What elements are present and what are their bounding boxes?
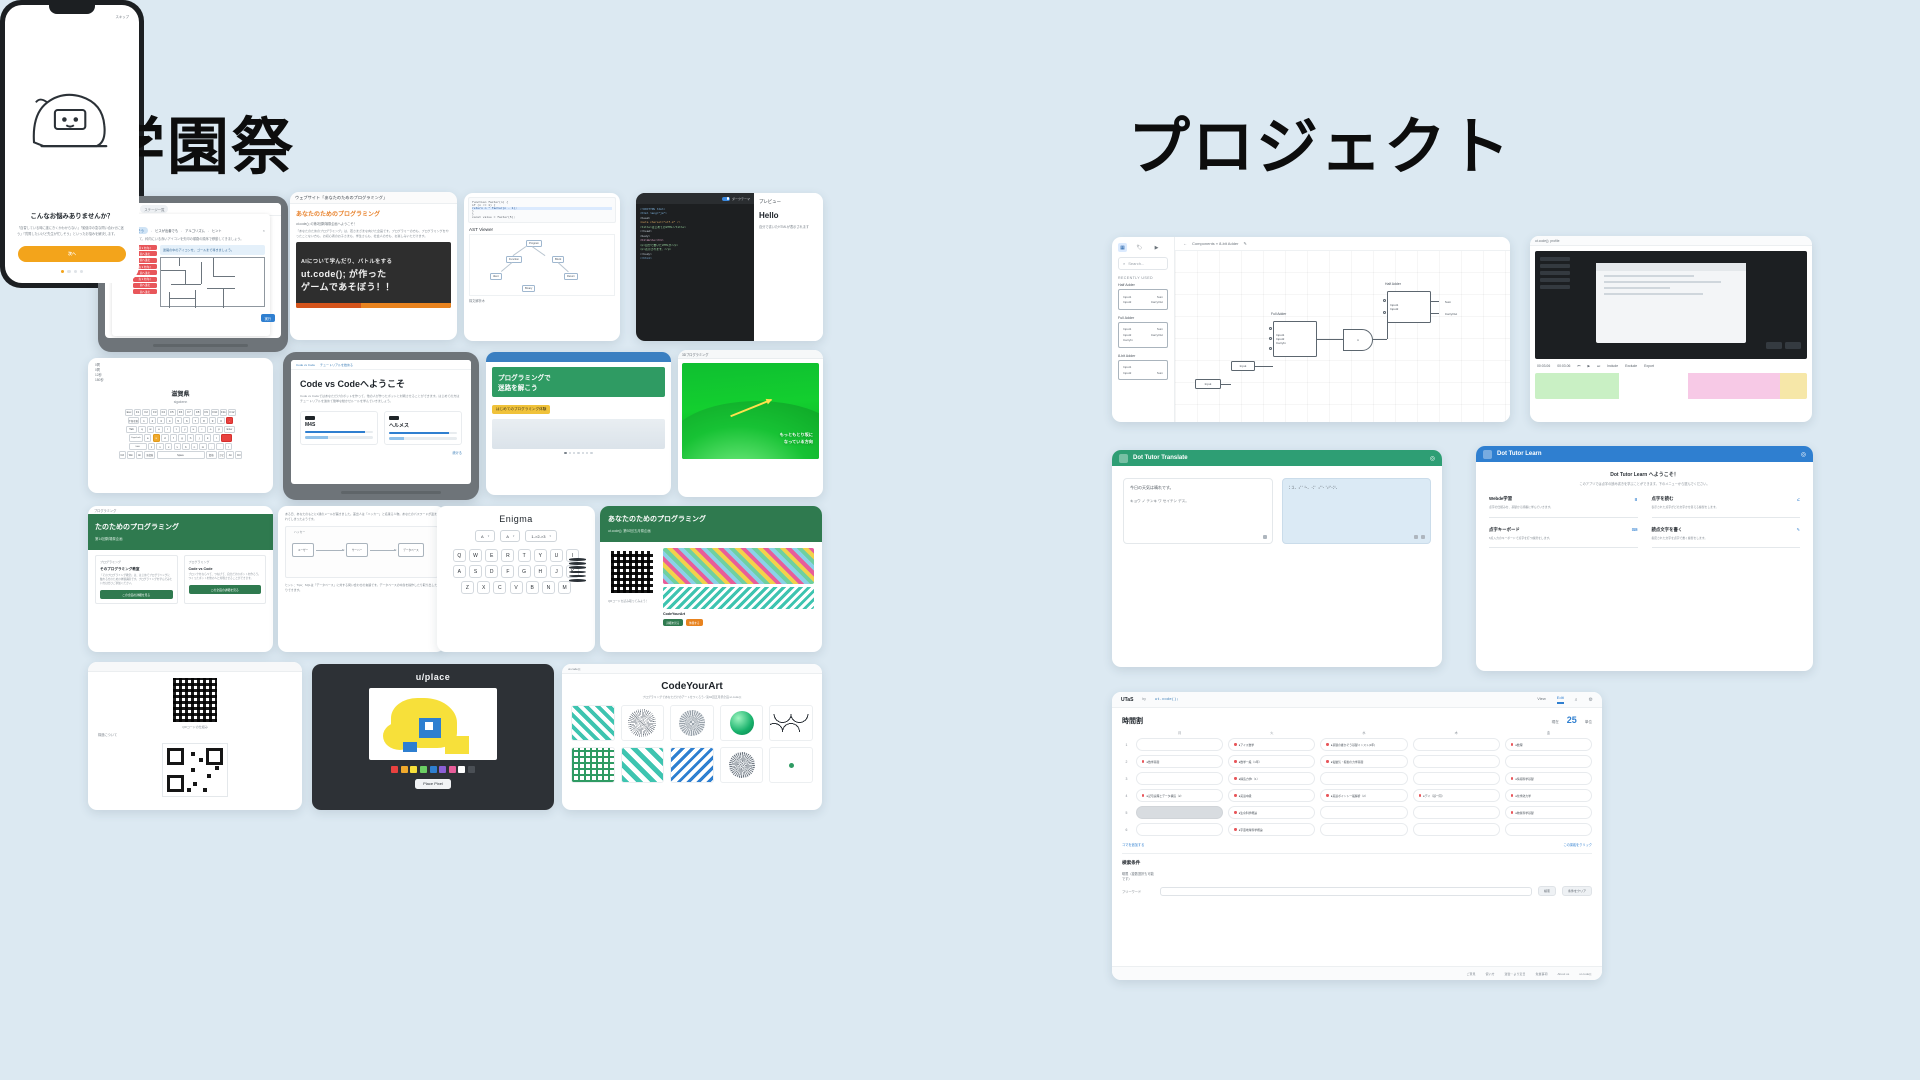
key[interactable]: w xyxy=(147,426,154,433)
video-stage[interactable] xyxy=(1535,251,1807,359)
cvc-footer-link[interactable]: 続ける xyxy=(300,451,462,456)
ast-canvas: Program Function Block Ident Return Bina… xyxy=(469,234,615,296)
maze-block[interactable]: 前へ進む xyxy=(133,283,157,288)
card-timetable-utas[interactable]: UTaS by ut.code(); View Edit ⌕ ⚙ 時間割 現在 … xyxy=(1112,692,1602,980)
art-tile[interactable] xyxy=(571,705,615,741)
phone-next-button[interactable]: 次へ xyxy=(18,246,126,262)
dtt-input-panel[interactable]: 今日の天気は晴れです。 キョウ ノ テンキ ワ セイテン デス。 xyxy=(1123,478,1273,544)
include-button[interactable]: Include xyxy=(1607,364,1618,368)
key[interactable]: F6 xyxy=(177,409,184,416)
key[interactable]: r xyxy=(164,426,171,433)
enigma-key[interactable]: T xyxy=(518,549,531,562)
video-progress-bar[interactable] xyxy=(296,303,451,308)
msolve-header xyxy=(486,352,671,362)
art-detail-button[interactable]: 詳細を見る xyxy=(663,619,683,626)
diagram-node-server[interactable]: サーバー xyxy=(346,543,368,557)
lec1-card-desc: ブロックをならべて、つなげて、自分だけのボットを作ろう。つくったボットを他の人と… xyxy=(189,573,262,581)
pin-in: Input1 xyxy=(1123,327,1131,331)
cvc-brand[interactable]: Code vs Code xyxy=(296,363,315,367)
key[interactable]: j xyxy=(195,434,202,441)
key[interactable]: i xyxy=(198,426,205,433)
card-code-vs-code[interactable]: Code vs Code チュートリアルを始める Code vs Codeへよう… xyxy=(283,352,479,500)
enigma-key[interactable]: Z xyxy=(461,581,474,594)
day-header: 金 xyxy=(1505,730,1592,735)
copy-icon xyxy=(1414,535,1418,539)
ast-node[interactable]: Return xyxy=(564,273,578,280)
timetable-cell[interactable] xyxy=(1413,772,1500,785)
key[interactable]: 6 xyxy=(183,417,190,424)
enigma-key[interactable]: V xyxy=(510,581,523,594)
filter-label: 曜限（複数選択も可能です） xyxy=(1122,871,1154,881)
key[interactable]: p xyxy=(215,426,222,433)
breadcrumb-path[interactable]: Components » 8-bit Adder xyxy=(1192,241,1238,246)
enigma-rotor-1[interactable]: A ▾ xyxy=(475,530,495,542)
enigma-key[interactable]: E xyxy=(485,549,498,562)
enigma-key[interactable]: A xyxy=(453,565,466,578)
key[interactable]: h xyxy=(187,434,194,441)
key[interactable]: m xyxy=(199,443,206,450)
key[interactable]: F10 xyxy=(211,409,218,416)
dtt-output-text: ⠅⠽⠄ ⠎⠁⠓⠄ ⠪⠁ ⠎⠑⠈⠞⠑⠝⠄ xyxy=(1289,485,1425,492)
footer-link[interactable]: ut.code(); xyxy=(1579,972,1592,976)
key[interactable]: 半角/全角 xyxy=(128,417,139,424)
key[interactable]: 3 xyxy=(157,417,164,424)
maze-step-4[interactable]: ヒント xyxy=(212,228,222,233)
key[interactable]: v xyxy=(174,443,181,450)
card-lecture-code-your-art[interactable]: あなたのためのプログラミング ut.code(); 第92回五月祭企画 QRコー… xyxy=(600,506,822,652)
canvas-and-gate[interactable]: ∧ xyxy=(1343,329,1373,351)
skip-button[interactable]: スキップ xyxy=(115,14,129,19)
canvas-full-adder-2[interactable]: Input1 Input2 xyxy=(1387,291,1431,323)
gear-icon[interactable]: ⚙ xyxy=(1589,697,1593,703)
card-video-editor[interactable]: ut.code(); profile 00:03.06 00:03.06 ⏮ ▶… xyxy=(1530,236,1812,422)
key-kana[interactable]: かな xyxy=(218,451,225,458)
enigma-rotor-2[interactable]: A ▾ xyxy=(500,530,520,542)
enigma-key[interactable]: R xyxy=(501,549,514,562)
timetable-cell[interactable]: ●構造力学I（1） xyxy=(1228,772,1315,785)
dtl-title: Dot Tutor Learn xyxy=(1497,451,1542,457)
card-qr-code-doc[interactable]: QRコードの仕組み 構造について xyxy=(88,662,302,810)
timetable-cell[interactable]: ●数学一般（1年） xyxy=(1228,755,1315,768)
key[interactable]: F2 xyxy=(142,409,149,416)
cvc-heading: Code vs Codeへようこそ xyxy=(300,377,462,390)
dtl-tile[interactable]: Webde学習⠿ 点字の仕組みを、基礎から順番に学んでいきます。 xyxy=(1489,496,1638,517)
timetable-cell[interactable] xyxy=(1413,738,1500,751)
timetable-heading: 時間割 xyxy=(1122,716,1143,726)
tablet-home-bar xyxy=(153,344,248,347)
card-enigma[interactable]: Enigma A ▾ A ▾ 1->2->3 ▾ Q W E R T Y xyxy=(437,506,595,652)
dark-theme-toggle[interactable] xyxy=(722,197,730,201)
key-win[interactable]: Win xyxy=(127,451,134,458)
footer-link[interactable]: ご意見 xyxy=(1466,972,1475,976)
footer-link[interactable]: 使い方 xyxy=(1485,972,1494,976)
key[interactable]: k xyxy=(204,434,211,441)
timetable-cell[interactable] xyxy=(1320,772,1407,785)
key[interactable]: 1 xyxy=(140,417,147,424)
cvc-nav-link[interactable]: チュートリアルを始める xyxy=(320,363,353,367)
video-timeline[interactable] xyxy=(1535,373,1807,399)
art-tile[interactable] xyxy=(769,705,813,741)
key[interactable]: f xyxy=(170,434,177,441)
key[interactable]: o xyxy=(207,426,214,433)
key[interactable]: F3 xyxy=(151,409,158,416)
timetable-cell[interactable]: ●生命科学概論 xyxy=(1228,806,1315,819)
timetable-cell[interactable]: ●英語中級 xyxy=(1228,789,1315,802)
art-tile[interactable] xyxy=(670,705,714,741)
enigma-key[interactable]: J xyxy=(550,565,563,578)
logic-sidebar: ▦ 🏷 ▶ ⌕ Search... RECENTLY USED Half Add… xyxy=(1112,237,1175,422)
phone-pagination-dots[interactable] xyxy=(5,262,139,283)
timetable-cell[interactable] xyxy=(1413,823,1500,836)
key-henkan[interactable]: 変換 xyxy=(206,451,217,458)
card-website-programming-for-you[interactable]: ウェブサイト「あなたのためのプログラミング」 あなたのためのプログラミング ut… xyxy=(290,192,457,340)
pin-out: Sum xyxy=(1157,295,1163,299)
timetable-cell[interactable]: ●数理 xyxy=(1505,738,1592,751)
enigma-key[interactable]: G xyxy=(518,565,531,578)
back-icon[interactable]: ← xyxy=(1183,241,1187,246)
key[interactable]: F8 xyxy=(194,409,201,416)
key[interactable]: 5 xyxy=(175,417,182,424)
ast-node[interactable]: Function xyxy=(506,256,522,263)
key[interactable]: Tab xyxy=(126,426,137,433)
ast-code-editor[interactable]: function factor(n) { if (n <= 1) { retur… xyxy=(468,197,616,223)
chevron-down-icon: ▾ xyxy=(549,534,551,538)
dtl-tile[interactable]: 点字キーボード⌨ 6点入力のキーボードで点字を打つ練習をします。 xyxy=(1489,527,1638,548)
site-video-thumbnail[interactable]: AIについて学んだり、バトルをする ut.code(); が作った ゲームであそ… xyxy=(296,242,451,308)
pencil-icon[interactable]: ✎ xyxy=(1243,241,1246,246)
dtt-body: 今日の天気は晴れです。 キョウ ノ テンキ ワ セイテン デス。 ⠅⠽⠄ ⠎⠁⠓… xyxy=(1112,466,1442,556)
key[interactable]: F4 xyxy=(160,409,167,416)
place-pixel-button[interactable]: Place Pixel xyxy=(415,779,451,789)
enigma-key[interactable]: D xyxy=(485,565,498,578)
key[interactable]: F5 xyxy=(168,409,175,416)
skip-start-icon[interactable]: ⏮ xyxy=(1577,364,1580,368)
key[interactable]: Esc xyxy=(125,409,132,416)
card-u-place[interactable]: u/place Place Pixel xyxy=(312,664,554,810)
maze-block[interactable]: 左 ▾ を向く xyxy=(133,277,157,282)
dtt-output-panel[interactable]: ⠅⠽⠄ ⠎⠁⠓⠄ ⠪⠁ ⠎⠑⠈⠞⠑⠝⠄ xyxy=(1282,478,1432,544)
clear-button[interactable]: 条件をクリア xyxy=(1562,886,1592,896)
tablet-home-bar xyxy=(341,491,441,494)
key[interactable]: . xyxy=(216,443,223,450)
key[interactable]: y xyxy=(181,426,188,433)
components-icon[interactable]: ▦ xyxy=(1118,243,1127,252)
key[interactable]: c xyxy=(165,443,172,450)
card-ast-viewer[interactable]: function factor(n) { if (n <= 1) { retur… xyxy=(464,193,620,341)
msolve-green-banner: プログラミングで 迷路を解こう xyxy=(492,367,665,397)
dtt-header: Dot Tutor Translate ◎ xyxy=(1112,450,1442,466)
timetable-cell[interactable] xyxy=(1320,823,1407,836)
enigma-key[interactable]: C xyxy=(493,581,506,594)
component-half-adder[interactable]: Half Adder Input1Sum Input2CarryOut xyxy=(1118,283,1168,310)
lec2-qr-caption: QRコードを読み取ってみよう！ xyxy=(608,599,656,603)
footer-link[interactable]: 免責事項 xyxy=(1535,972,1547,976)
video-left-tools[interactable] xyxy=(1540,257,1570,292)
lec1-card-button[interactable]: この企画の詳細を見る xyxy=(189,585,262,593)
art-tile[interactable] xyxy=(720,705,764,741)
key-shift[interactable]: Shift xyxy=(129,443,147,450)
dtl-tile[interactable]: 点字を読む⠮ 表示された点字がどの文字かを答える練習をします。 xyxy=(1652,496,1801,517)
key[interactable]: F7 xyxy=(185,409,192,416)
key[interactable]: x xyxy=(156,443,163,450)
phone-paragraph: 「自習している時に誰にきくかわからない」「勉強中の急な問い合わせに迷う」「質問し… xyxy=(5,220,139,238)
timetable-cell[interactable] xyxy=(1136,738,1223,751)
tag-icon[interactable]: 🏷 xyxy=(1135,243,1144,252)
timetable-cell[interactable]: ●物質科学基礎 xyxy=(1505,806,1592,819)
enigma-key[interactable]: Q xyxy=(453,549,466,562)
qr-titlebar xyxy=(88,662,302,672)
enigma-key[interactable]: N xyxy=(542,581,555,594)
lec2-banner: あなたのためのプログラミング ut.code(); 第92回五月祭企画 xyxy=(600,506,822,542)
key-muhenkan[interactable]: 無変換 xyxy=(144,451,155,458)
play-icon[interactable]: ▶ xyxy=(1587,364,1590,368)
exclude-button[interactable]: Exclude xyxy=(1625,364,1637,368)
key-alt-r[interactable]: Alt xyxy=(226,451,233,458)
cvc-bot-cards: M4S ヘルメス xyxy=(300,411,462,445)
recently-used-label: RECENTLY USED xyxy=(1112,276,1174,283)
key[interactable]: 0 xyxy=(217,417,224,424)
dtl-tile[interactable]: 読点文字を書く✎ 指定された文字を点字で書く練習をします。 xyxy=(1652,527,1801,548)
card-lecture-programming-for-you[interactable]: プログラミング たのためのプログラミング 第14回駒場祭企画 プログラミング そ… xyxy=(88,506,273,652)
card-dot-tutor-learn[interactable]: Dot Tutor Learn ◎ Dot Tutor Learn へようこそ！… xyxy=(1476,446,1813,671)
site-subtitle: ut.code(); の第2回駒場祭企画へようこそ！ xyxy=(296,221,451,226)
skip-end-icon[interactable]: ⏭ xyxy=(1597,364,1600,368)
diagram-node-db[interactable]: データベース xyxy=(398,543,424,557)
typing-stats: 0問 0問 12秒 180秒 xyxy=(88,358,273,384)
canvas-full-adder[interactable]: Input1 Input2 CarryIn xyxy=(1273,321,1317,357)
ast-node[interactable]: Program xyxy=(526,240,542,247)
search-icon[interactable]: ⌕ xyxy=(1575,697,1578,703)
click-lecture-link[interactable]: この講義をクリック xyxy=(1563,842,1592,847)
enigma-rotor-order[interactable]: 1->2->3 ▾ xyxy=(525,530,557,542)
pin-out: Sum xyxy=(1157,327,1163,331)
card-3d-programming[interactable]: 3Dプログラミング もっともとり坂に なっている方向 xyxy=(678,350,823,497)
key[interactable]: u xyxy=(190,426,197,433)
keyboard-row-number: 半角/全角 1 2 3 4 5 6 7 8 9 0 - xyxy=(92,417,269,424)
play-icon[interactable]: ▶ xyxy=(1152,243,1161,252)
key[interactable]: 4 xyxy=(166,417,173,424)
diagram-node-user[interactable]: ユーザー xyxy=(292,543,314,557)
maze-nav-pill2[interactable]: ステージ一覧 xyxy=(140,205,168,212)
preview-heading: Hello xyxy=(759,211,818,220)
key[interactable]: 8 xyxy=(200,417,207,424)
virtual-keyboard[interactable]: Esc F1 F2 F3 F4 F5 F6 F7 F8 F9 F10 F11 F… xyxy=(92,409,269,459)
enigma-key[interactable]: S xyxy=(469,565,482,578)
enigma-key[interactable]: W xyxy=(469,549,482,562)
timetable-cell[interactable]: ●数学基礎 xyxy=(1136,755,1223,768)
help-circle-icon[interactable]: ◎ xyxy=(1430,455,1435,462)
art-tile[interactable] xyxy=(720,747,764,783)
enigma-row-3: Z X C V B N M xyxy=(446,581,586,594)
enigma-key[interactable]: M xyxy=(558,581,571,594)
timetable-cell[interactable] xyxy=(1413,806,1500,819)
enigma-key[interactable]: B xyxy=(526,581,539,594)
dark-theme-label: ダークテーマ xyxy=(732,197,750,201)
key[interactable]: F9 xyxy=(203,409,210,416)
key[interactable]: a xyxy=(144,434,151,441)
student-desk-illustration xyxy=(15,72,129,158)
component-8bit-adder[interactable]: 8-bit Adder Input1 Input2Sum xyxy=(1118,354,1168,381)
add-slot-link[interactable]: コマを追加する xyxy=(1122,842,1144,847)
timetable-cell[interactable] xyxy=(1413,755,1500,768)
art-tile[interactable] xyxy=(670,747,714,783)
lec1-card[interactable]: プログラミング そのプログラミング教室 「そのプログラミング教室」は、はじめてプ… xyxy=(95,555,178,604)
timetable-cell[interactable]: ●電磁気・振動の力学基礎 xyxy=(1320,755,1407,768)
footer-link[interactable]: 運営・より近日 xyxy=(1505,972,1526,976)
lec1-card[interactable]: プログラミング Code vs Code ブロックをならべて、つなげて、自分だけ… xyxy=(184,555,267,604)
footer-link[interactable]: About us xyxy=(1557,972,1569,976)
lec1-card-button[interactable]: この企画の詳細を見る xyxy=(100,590,173,598)
timetable-title-row: 時間割 現在 25 単位 xyxy=(1112,708,1602,730)
pin-in: Input2 xyxy=(1123,300,1131,304)
key[interactable]: t xyxy=(173,426,180,433)
key-space[interactable]: Space xyxy=(157,451,205,458)
card-maze-solve-slides[interactable]: プログラミングで 迷路を解こう はじめてのプログラミング体験 xyxy=(486,352,671,495)
timetable-cell[interactable]: ●英語ポイント一般解析（2） xyxy=(1320,789,1407,802)
card-logic-circuit-editor[interactable]: ▦ 🏷 ▶ ⌕ Search... RECENTLY USED Half Add… xyxy=(1112,237,1510,422)
maze-block[interactable]: 前へ進む xyxy=(133,289,157,294)
tab-edit[interactable]: Edit xyxy=(1557,695,1564,704)
canvas-input-node[interactable]: Input xyxy=(1195,379,1221,389)
enigma-key[interactable]: U xyxy=(550,549,563,562)
video-line-1: AIについて学んだり、バトルをする xyxy=(301,257,446,265)
search-input[interactable]: ⌕ Search... xyxy=(1118,257,1168,270)
card-html-editor[interactable]: ダークテーマ <!DOCTYPE html> <html lang="ja"> … xyxy=(636,193,823,341)
art-preview-image xyxy=(663,548,814,584)
key[interactable]: F1 xyxy=(134,409,141,416)
ast-node[interactable]: Ident xyxy=(490,273,502,280)
pen-icon: ✎ xyxy=(1797,527,1800,532)
page-root: 学園祭 プロジェクト コースを選ぶ ステージ一覧 迷路 ロボを動かそう › ビス… xyxy=(0,0,1920,1080)
hacker-paragraph: ある日、あなたのもとに1通のメールが届きました。差出人は「ハッカー」と名乗る人物… xyxy=(278,506,445,521)
canvas-node[interactable]: Input xyxy=(1231,361,1255,371)
export-button[interactable]: Export xyxy=(1644,364,1654,368)
maze-instruction: ブロックをすべて、枠内にいる赤いアイコンを矢印の順路の順序で移動してきましょう。 xyxy=(117,237,265,242)
key[interactable]: b xyxy=(182,443,189,450)
dtt-input-reading: キョウ ノ テンキ ワ セイテン デス。 xyxy=(1130,498,1266,504)
card-code-your-art-gallery[interactable]: ut.code(); CodeYourArt プログラミングであなただけのアート… xyxy=(562,664,822,810)
key-ctrl[interactable]: Ctrl xyxy=(119,451,126,458)
editor-code[interactable]: <!DOCTYPE html> <html lang="ja"> <head> … xyxy=(636,204,754,266)
uplace-pixel-canvas[interactable] xyxy=(369,688,497,760)
video-right-tools[interactable] xyxy=(1766,342,1801,349)
timetable-cell[interactable]: ●情報科学基礎 xyxy=(1505,772,1592,785)
enigma-key[interactable]: H xyxy=(534,565,547,578)
key[interactable]: e xyxy=(155,426,162,433)
close-icon[interactable]: × xyxy=(263,228,265,233)
uplace-palette[interactable] xyxy=(391,766,475,773)
day-header: 火 xyxy=(1228,730,1315,735)
key[interactable]: l xyxy=(213,434,220,441)
enigma-key[interactable]: F xyxy=(501,565,514,578)
card-hacker-sql[interactable]: ある日、あなたのもとに1通のメールが届きました。差出人は「ハッカー」と名乗る人物… xyxy=(278,506,445,652)
timetable-cell[interactable] xyxy=(1320,806,1407,819)
key[interactable]: F11 xyxy=(220,409,227,416)
timetable-footer: ご意見 使い方 運営・より近日 免責事項 About us ut.code(); xyxy=(1112,966,1602,980)
timetable-cell[interactable] xyxy=(1505,755,1592,768)
cvc-bot-left[interactable]: M4S xyxy=(300,411,378,445)
tab-view[interactable]: View xyxy=(1537,696,1546,703)
key[interactable]: , xyxy=(208,443,215,450)
maze-step-2[interactable]: ビスが出番でも xyxy=(155,228,178,233)
key-backspace[interactable]: - xyxy=(226,417,233,424)
maze-step-3[interactable]: アルゴリズム xyxy=(185,228,205,233)
art-tile[interactable] xyxy=(621,747,665,783)
maze-modal-title: 迷路 xyxy=(117,218,265,224)
cvc-bot-right[interactable]: ヘルメス xyxy=(384,411,462,445)
key[interactable]: z xyxy=(148,443,155,450)
timetable-cell[interactable]: ●記号論理とデータ構造（2） xyxy=(1136,789,1223,802)
ast-panel-title: 構文解析木 xyxy=(464,296,620,307)
key-alt[interactable]: Alt xyxy=(136,451,143,458)
free-word-input[interactable] xyxy=(1160,887,1532,896)
logic-canvas[interactable]: Input Input Input1 Input2 CarryIn Full A… xyxy=(1175,251,1510,422)
card-typing-practice[interactable]: 0問 0問 12秒 180秒 滋賀県 sigakenn Esc F1 F2 F3… xyxy=(88,358,273,493)
art-tile[interactable] xyxy=(621,705,665,741)
timetable-cell[interactable]: ●宇宙地球科学概論 xyxy=(1228,823,1315,836)
timetable-cell-selected[interactable] xyxy=(1136,806,1223,819)
msolve-carousel-dots[interactable] xyxy=(486,452,671,454)
key-ctrl-r[interactable]: Ctrl xyxy=(235,451,242,458)
timetable-cell[interactable]: ●アイス数学 xyxy=(1228,738,1315,751)
key[interactable]: d xyxy=(161,434,168,441)
timetable-cell[interactable]: ●デイ（基一同） xyxy=(1413,789,1500,802)
art-try-button[interactable]: 体験する xyxy=(686,619,703,626)
key[interactable]: g xyxy=(178,434,185,441)
code-line: </html> xyxy=(640,257,750,261)
key-enter[interactable]: Enter xyxy=(224,426,235,433)
card-mobile-onboarding[interactable]: スキップ こんなお悩みありませんか？ 「自習している時に誰にきくかわからない」「… xyxy=(0,0,144,288)
enigma-rotor-drum[interactable] xyxy=(569,558,586,583)
enigma-key[interactable]: Y xyxy=(534,549,547,562)
timetable-cell[interactable]: ●化学熱力学 xyxy=(1505,789,1592,802)
chevron-down-icon: ▾ xyxy=(513,534,515,538)
key[interactable]: 2 xyxy=(149,417,156,424)
search-section-title: 検索条件 xyxy=(1122,860,1592,866)
key[interactable]: 9 xyxy=(209,417,216,424)
key-capslock[interactable]: CapsLock xyxy=(129,434,143,441)
key[interactable]: n xyxy=(191,443,198,450)
timetable-cell[interactable]: ●基礎の確かそう基礎インスト(1年) xyxy=(1320,738,1407,751)
component-full-adder[interactable]: Full Adder Input1Sum Input2CarryOut Carr… xyxy=(1118,316,1168,348)
art-tile[interactable] xyxy=(571,747,615,783)
component-box: Input1Sum Input2CarryOut CarryIn xyxy=(1118,322,1168,348)
dtt-output-actions[interactable] xyxy=(1414,535,1425,539)
dtt-input-actions[interactable] xyxy=(1263,535,1267,539)
g3d-canvas[interactable]: もっともとり坂に なっている方向 xyxy=(682,363,819,459)
enigma-key[interactable]: X xyxy=(477,581,490,594)
key[interactable]: F12 xyxy=(228,409,235,416)
search-button[interactable]: 検索 xyxy=(1538,886,1556,896)
timetable-cell[interactable] xyxy=(1136,823,1223,836)
editor-code-pane[interactable]: ダークテーマ <!DOCTYPE html> <html lang="ja"> … xyxy=(636,193,754,341)
key[interactable]: / xyxy=(225,443,232,450)
key[interactable]: q xyxy=(138,426,145,433)
art-tile[interactable] xyxy=(769,747,813,783)
key-highlighted[interactable]: s xyxy=(153,434,160,441)
timetable-cell[interactable] xyxy=(1505,823,1592,836)
key[interactable]: 7 xyxy=(192,417,199,424)
dtl-heading: Dot Tutor Learn へようこそ！ xyxy=(1476,471,1813,478)
braille-logo-icon xyxy=(1483,450,1492,459)
help-circle-icon[interactable]: ◎ xyxy=(1801,451,1806,458)
maze-run-button[interactable]: 実行 xyxy=(261,314,275,322)
card-dot-tutor-translate[interactable]: Dot Tutor Translate ◎ 今日の天気は晴れです。 キョウ ノ … xyxy=(1112,450,1442,667)
key-enter-red[interactable] xyxy=(221,434,232,441)
ast-node[interactable]: Binary xyxy=(522,285,535,292)
timetable-cell[interactable] xyxy=(1136,772,1223,785)
lec1-banner: たのためのプログラミング 第14回駒場祭企画 xyxy=(88,514,273,550)
